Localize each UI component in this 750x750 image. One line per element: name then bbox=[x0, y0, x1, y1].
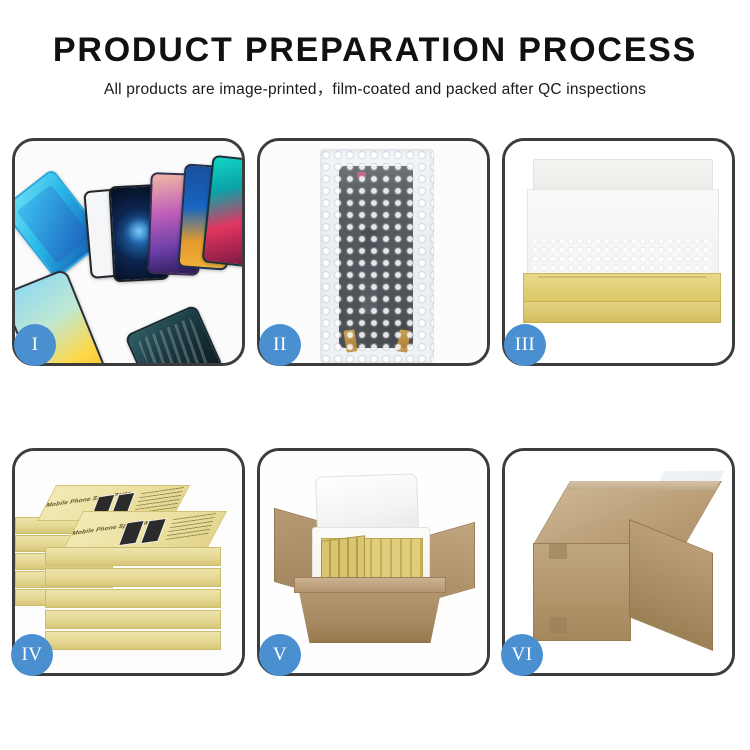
carton-side-face-icon bbox=[629, 519, 713, 651]
carton-rim-icon bbox=[294, 577, 446, 593]
carton-front-face-icon bbox=[533, 543, 631, 641]
bubble-wrap-bag-icon bbox=[320, 149, 434, 363]
packing-tape-icon bbox=[565, 481, 720, 490]
gold-connector-right-icon bbox=[396, 329, 410, 352]
step-image-stacked-boxes: Mobile Phone Spare Parts Mobile Phone Sp… bbox=[15, 451, 242, 673]
step-panel-6[interactable]: VI bbox=[502, 448, 735, 676]
carton-body-icon bbox=[298, 587, 442, 643]
stacked-box-front-4 bbox=[45, 610, 221, 629]
process-steps-grid: I II III bbox=[12, 138, 740, 676]
carton-top-face-icon bbox=[533, 481, 722, 545]
step-badge-3: III bbox=[504, 324, 546, 366]
step-panel-3[interactable]: III bbox=[502, 138, 735, 366]
stacked-box-front-1 bbox=[45, 547, 221, 566]
stacked-box-front-5 bbox=[45, 631, 221, 650]
page-header: PRODUCT PREPARATION PROCESS All products… bbox=[0, 0, 750, 101]
step-panel-4[interactable]: Mobile Phone Spare Parts Mobile Phone Sp… bbox=[12, 448, 245, 676]
step-badge-1: I bbox=[14, 324, 56, 366]
yellow-box-front-wall-icon bbox=[523, 301, 721, 323]
step-badge-4: IV bbox=[11, 634, 53, 676]
stacked-box-front-2 bbox=[45, 568, 221, 587]
pink-connector-icon bbox=[357, 172, 366, 178]
step-panel-1[interactable]: I bbox=[12, 138, 245, 366]
step-badge-6: VI bbox=[501, 634, 543, 676]
carton-handle-tab-top-icon bbox=[549, 543, 567, 559]
box-stack-group: Mobile Phone Spare Parts Mobile Phone Sp… bbox=[15, 451, 242, 673]
step-badge-2: II bbox=[259, 324, 301, 366]
stacked-box-front-3 bbox=[45, 589, 221, 608]
phone-opened-chassis-icon bbox=[124, 304, 224, 363]
step-panel-2[interactable]: II bbox=[257, 138, 490, 366]
page-title: PRODUCT PREPARATION PROCESS bbox=[0, 30, 750, 70]
step-badge-5: V bbox=[259, 634, 301, 676]
page-subtitle: All products are image-printed，film-coat… bbox=[0, 79, 750, 101]
foam-lid-icon bbox=[315, 473, 419, 535]
lcd-screen-assembly-icon bbox=[339, 166, 413, 348]
step-panel-5[interactable]: V bbox=[257, 448, 490, 676]
step-image-sealed-carton bbox=[505, 451, 732, 673]
carton-handle-tab-bottom-icon bbox=[549, 617, 567, 633]
